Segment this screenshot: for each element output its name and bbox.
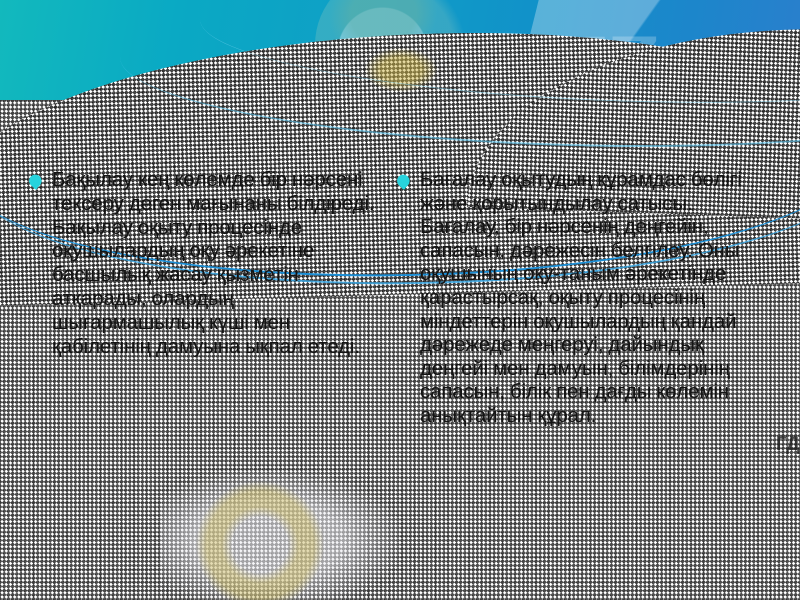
text-column-right: Бағалау оқытудың құрамдас бөлігі және қо…	[400, 150, 800, 570]
paragraph-text-right: Бағалау оқытудың құрамдас бөлігі және қо…	[420, 168, 766, 428]
bullet-item-right: Бағалау оқытудың құрамдас бөлігі және қо…	[420, 168, 766, 428]
teardrop-bullet-icon	[28, 174, 43, 190]
bullet-item-left: Бақылау кең көлемде бір нәрсені тексеру …	[52, 168, 382, 358]
slide-body: Бақылау кең көлемде бір нәрсені тексеру …	[0, 150, 800, 570]
paragraph-text-left: Бақылау кең көлемде бір нәрсені тексеру …	[52, 168, 382, 358]
text-column-left: Бақылау кең көлемде бір нәрсені тексеру …	[0, 150, 400, 570]
presentation-slide: KZ ГДСК Бақылау кең көлемде бір нәрсені …	[0, 0, 800, 600]
teardrop-bullet-icon	[396, 174, 411, 190]
